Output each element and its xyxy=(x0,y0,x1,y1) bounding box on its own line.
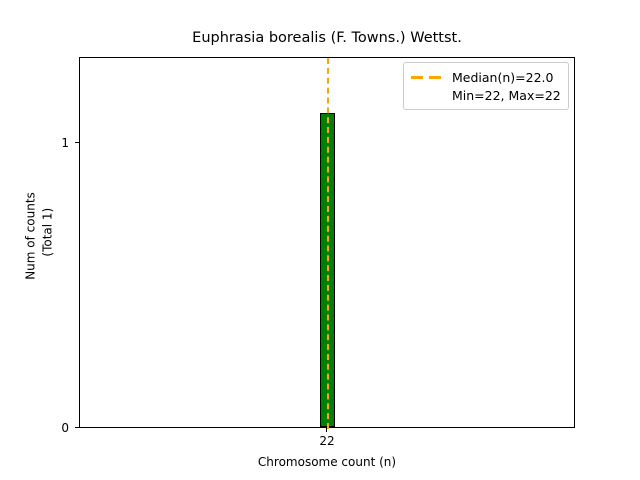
median-line xyxy=(327,58,329,429)
legend-spacer xyxy=(410,86,444,104)
xtick-label-22: 22 xyxy=(306,434,348,448)
xtick-mark-22 xyxy=(326,428,327,432)
x-axis-label: Chromosome count (n) xyxy=(79,455,575,469)
chart-title: Euphrasia borealis (F. Towns.) Wettst. xyxy=(79,30,575,46)
chart-figure: Euphrasia borealis (F. Towns.) Wettst. 0… xyxy=(0,0,640,480)
legend-label-median: Median(n)=22.0 xyxy=(452,70,553,85)
legend-label-minmax: Min=22, Max=22 xyxy=(452,88,561,103)
plot-area xyxy=(79,57,575,428)
dashed-line-icon xyxy=(410,68,444,86)
legend: Median(n)=22.0 Min=22, Max=22 xyxy=(403,62,569,110)
legend-entry-minmax: Min=22, Max=22 xyxy=(410,86,561,104)
y-axis-label: Num of counts (Total 1) xyxy=(23,51,57,422)
ytick-label-0: 0 xyxy=(43,421,69,435)
ytick-mark-0 xyxy=(75,427,79,428)
ytick-mark-1 xyxy=(75,142,79,143)
legend-entry-median: Median(n)=22.0 xyxy=(410,68,561,86)
